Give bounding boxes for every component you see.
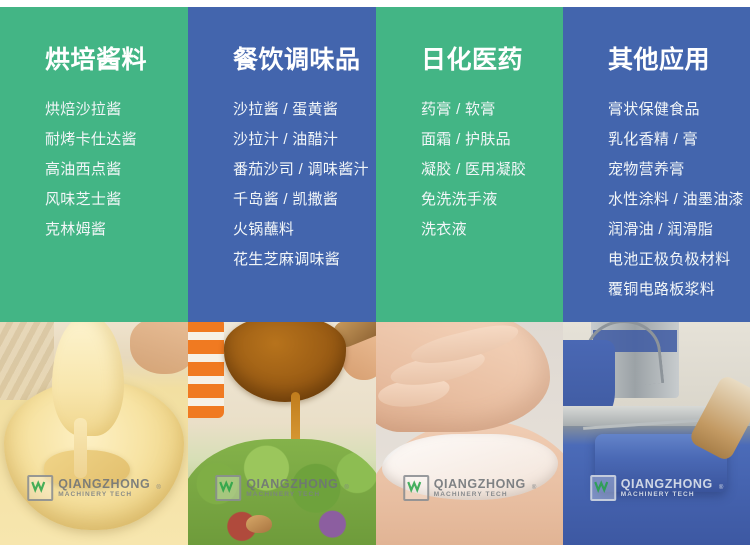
- sauce-bowl-image: [0, 322, 188, 545]
- list-item: 覆铜电路板浆料: [608, 275, 750, 305]
- list-item: 药膏 / 软膏: [421, 95, 563, 125]
- list-item: 乳化香精 / 膏: [608, 125, 750, 155]
- category-item-list: 烘焙沙拉酱 耐烤卡仕达酱 高油西点酱 风味芝士酱 克林姆酱: [45, 95, 188, 245]
- list-item: 水性涂料 / 油墨油漆: [608, 185, 750, 215]
- list-item: 耐烤卡仕达酱: [45, 125, 188, 155]
- category-panel-daily-chemical-pharma[interactable]: 日化医药 药膏 / 软膏 面霜 / 护肤品 凝胶 / 医用凝胶 免洗洗手液 洗衣…: [376, 7, 563, 322]
- sauce-pool-shape: [44, 450, 130, 488]
- list-item: 洗衣液: [421, 215, 563, 245]
- category-panel-baking-sauces[interactable]: 烘培酱料 烘焙沙拉酱 耐烤卡仕达酱 高油西点酱 风味芝士酱 克林姆酱: [0, 7, 188, 322]
- category-panel-other-applications[interactable]: 其他应用 膏状保健食品 乳化香精 / 膏 宠物营养膏 水性涂料 / 油墨油漆 润…: [563, 7, 750, 322]
- wooden-board-shape: [0, 322, 54, 400]
- list-item: 沙拉汁 / 油醋汁: [233, 125, 376, 155]
- gel-smear-shape: [382, 434, 558, 500]
- pouring-sauce-shape: [52, 322, 124, 436]
- list-item: 千岛酱 / 凯撒酱: [233, 185, 376, 215]
- list-item: 花生芝麻调味酱: [233, 245, 376, 275]
- photo-amber-dressing-poured-from-ladle-onto-salad: QIANGZHONG MACHINERY TECH ®: [188, 322, 376, 545]
- photo-blue-paint-roller-in-tray: QIANGZHONG MACHINERY TECH ®: [563, 322, 750, 545]
- list-item: 膏状保健食品: [608, 95, 750, 125]
- category-title: 其他应用: [608, 48, 750, 73]
- gel-on-skin-image: [376, 322, 563, 545]
- list-item: 电池正极负极材料: [608, 245, 750, 275]
- list-item: 沙拉酱 / 蛋黄酱: [233, 95, 376, 125]
- application-categories-page: 烘培酱料 烘焙沙拉酱 耐烤卡仕达酱 高油西点酱 风味芝士酱 克林姆酱 餐饮调味品…: [0, 0, 750, 545]
- list-item: 番茄沙司 / 调味酱汁: [233, 155, 376, 185]
- photo-fingers-spreading-clear-gel-on-skin: QIANGZHONG MACHINERY TECH ®: [376, 322, 563, 545]
- category-photo-strip: QIANGZHONG MACHINERY TECH ®: [0, 322, 750, 545]
- category-item-list: 膏状保健食品 乳化香精 / 膏 宠物营养膏 水性涂料 / 油墨油漆 润滑油 / …: [608, 95, 750, 305]
- list-item: 免洗洗手液: [421, 185, 563, 215]
- almond-shape: [246, 515, 272, 533]
- category-panel-catering-seasonings[interactable]: 餐饮调味品 沙拉酱 / 蛋黄酱 沙拉汁 / 油醋汁 番茄沙司 / 调味酱汁 千岛…: [188, 7, 376, 322]
- photo-creamy-yellow-sauce-poured-into-glass-bowl: QIANGZHONG MACHINERY TECH ®: [0, 322, 188, 545]
- list-item: 凝胶 / 医用凝胶: [421, 155, 563, 185]
- ladle-bowl-shape: [224, 322, 346, 402]
- category-title: 餐饮调味品: [233, 48, 376, 73]
- category-item-list: 沙拉酱 / 蛋黄酱 沙拉汁 / 油醋汁 番茄沙司 / 调味酱汁 千岛酱 / 凯撒…: [233, 95, 376, 275]
- category-title: 日化医药: [421, 48, 563, 73]
- list-item: 烘焙沙拉酱: [45, 95, 188, 125]
- sauce-drip-shape: [74, 418, 87, 478]
- list-item: 克林姆酱: [45, 215, 188, 245]
- orange-jar-shape: [188, 322, 224, 418]
- category-title: 烘培酱料: [45, 48, 188, 73]
- list-item: 风味芝士酱: [45, 185, 188, 215]
- list-item: 高油西点酱: [45, 155, 188, 185]
- list-item: 火锅蘸料: [233, 215, 376, 245]
- list-item: 宠物营养膏: [608, 155, 750, 185]
- category-panels: 烘培酱料 烘焙沙拉酱 耐烤卡仕达酱 高油西点酱 风味芝士酱 克林姆酱 餐饮调味品…: [0, 7, 750, 322]
- list-item: 面霜 / 护肤品: [421, 125, 563, 155]
- category-item-list: 药膏 / 软膏 面霜 / 护肤品 凝胶 / 医用凝胶 免洗洗手液 洗衣液: [421, 95, 563, 245]
- salad-greens-shape: [188, 439, 376, 545]
- list-item: 润滑油 / 润滑脂: [608, 215, 750, 245]
- salad-dressing-image: [188, 322, 376, 545]
- paint-roller-image: [563, 322, 750, 545]
- hand-shape: [130, 322, 188, 374]
